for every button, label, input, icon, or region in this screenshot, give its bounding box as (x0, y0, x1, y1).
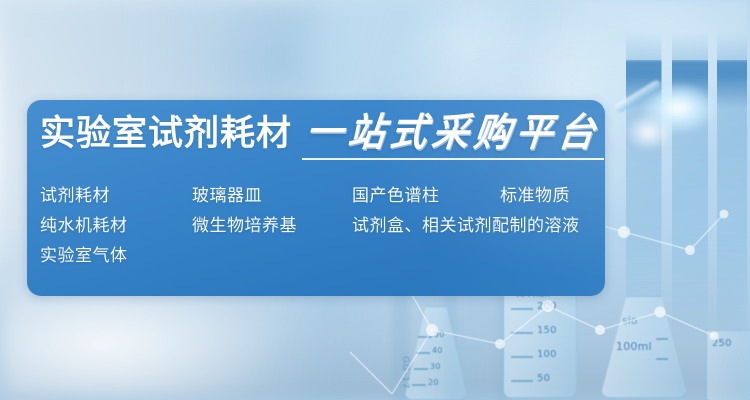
category-row: 试剂耗材 玻璃器皿 国产色谱柱 标准物质 (40, 178, 595, 208)
category-row: 纯水机耗材 微生物培养基 试剂盒、相关试剂配制的溶液 (40, 208, 595, 238)
beaker-far-right-mark: 250 (712, 338, 732, 349)
category-item[interactable]: 微生物培养基 (192, 211, 352, 236)
flask-mark-50: 50 (434, 330, 445, 339)
category-item[interactable]: 标准物质 (500, 181, 570, 206)
flask-mark-40: 40 (432, 346, 443, 355)
category-item[interactable]: 实验室气体 (40, 241, 192, 266)
title-script-text: 一站式采购平台 (304, 113, 602, 152)
flask-volume-label: 100ml (616, 340, 652, 353)
flask-mark-20: 20 (428, 378, 439, 387)
beaker-mark-150: 150 (537, 325, 557, 336)
beaker-mark-50: 50 (537, 373, 550, 384)
category-item[interactable]: 试剂耗材 (40, 181, 192, 206)
blue-content-panel: 实验室试剂耗材 一站式采购平台 试剂耗材 玻璃器皿 国产色谱柱 标准物质 纯水机… (27, 100, 605, 296)
category-list: 试剂耗材 玻璃器皿 国产色谱柱 标准物质 纯水机耗材 微生物培养基 试剂盒、相关… (40, 178, 595, 268)
category-item[interactable]: 纯水机耗材 (40, 211, 192, 236)
beaker-mark-200: 200 (537, 301, 557, 312)
flask-brand-vertical-label: GG-17 (400, 356, 410, 390)
flask-small-image: 50 40 30 20 GG-17 (396, 300, 482, 400)
flask-brand-label: sio (622, 314, 638, 327)
flask-erlenmeyer-image: sio 100ml (600, 296, 692, 400)
category-item[interactable]: 玻璃器皿 (192, 181, 352, 206)
banner-title: 实验室试剂耗材 一站式采购平台 (40, 114, 604, 160)
category-item[interactable]: 国产色谱柱 (352, 181, 500, 206)
title-script-underline: 一站式采购平台 (302, 114, 604, 160)
beaker-mark-100: 100 (537, 349, 557, 360)
beaker-far-right-image: 250 (706, 330, 750, 400)
flask-mark-30: 30 (430, 362, 441, 371)
promo-banner: 250 APPROX 200 150 100 50 GG-17 sio 100m… (0, 0, 750, 400)
title-main-text: 实验室试剂耗材 (40, 117, 292, 152)
category-row: 实验室气体 (40, 238, 595, 268)
category-item[interactable]: 试剂盒、相关试剂配制的溶液 (352, 211, 580, 236)
